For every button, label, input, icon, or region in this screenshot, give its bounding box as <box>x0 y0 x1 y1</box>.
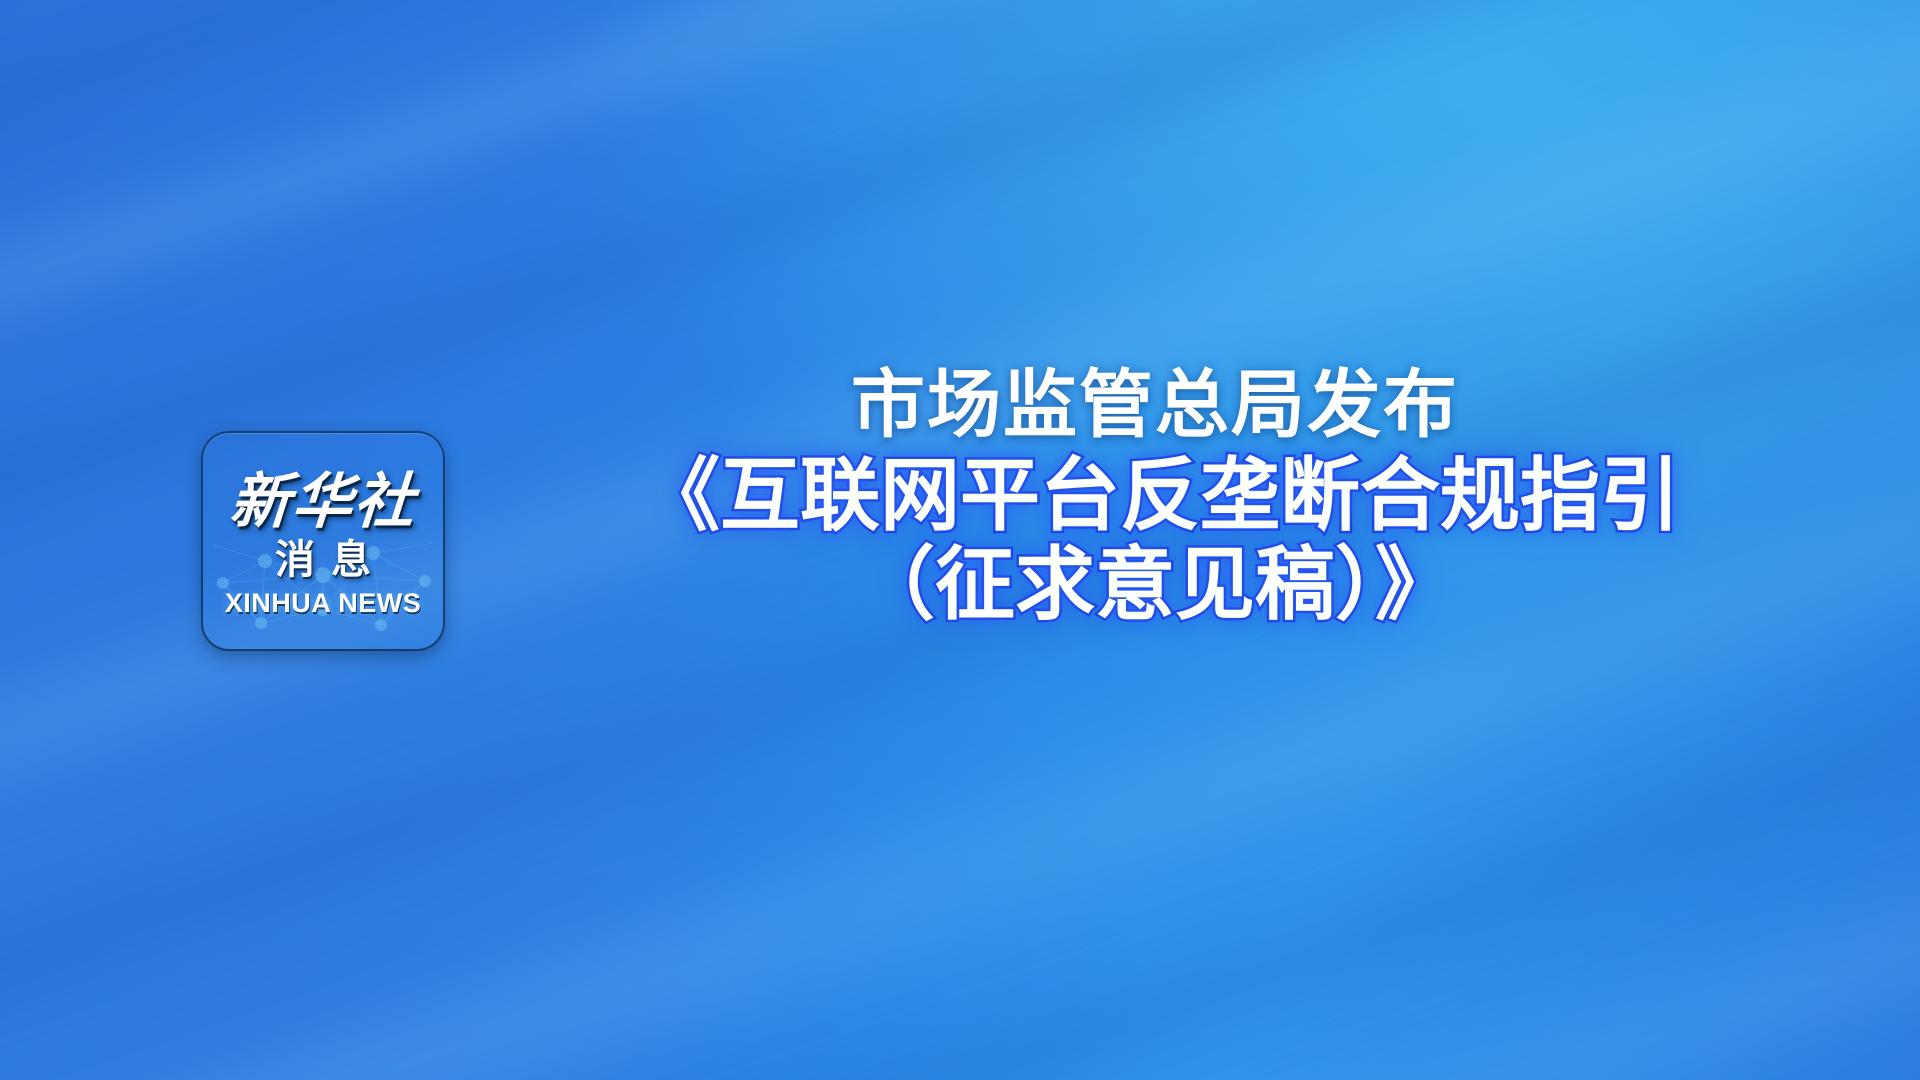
logo-calligraphy-text: 新华社 <box>228 472 418 532</box>
xinhua-news-logo: 新华社 消息 XINHUA NEWS <box>203 433 443 649</box>
headline-line-1: 市场监管总局发布 <box>640 368 1670 442</box>
news-card-canvas: 新华社 消息 XINHUA NEWS 市场监管总局发布 《互联网平台反垄断合规指… <box>0 0 1920 1080</box>
headline-line-3: （征求意见稿）》 <box>640 543 1670 628</box>
headline-line-2: 《互联网平台反垄断合规指引 <box>640 454 1670 539</box>
logo-subtitle-text: 消息 <box>259 540 387 580</box>
logo-content: 新华社 消息 XINHUA NEWS <box>203 433 443 649</box>
logo-english-text: XINHUA NEWS <box>225 590 422 617</box>
headline-block: 市场监管总局发布 《互联网平台反垄断合规指引 （征求意见稿）》 <box>640 368 1670 628</box>
